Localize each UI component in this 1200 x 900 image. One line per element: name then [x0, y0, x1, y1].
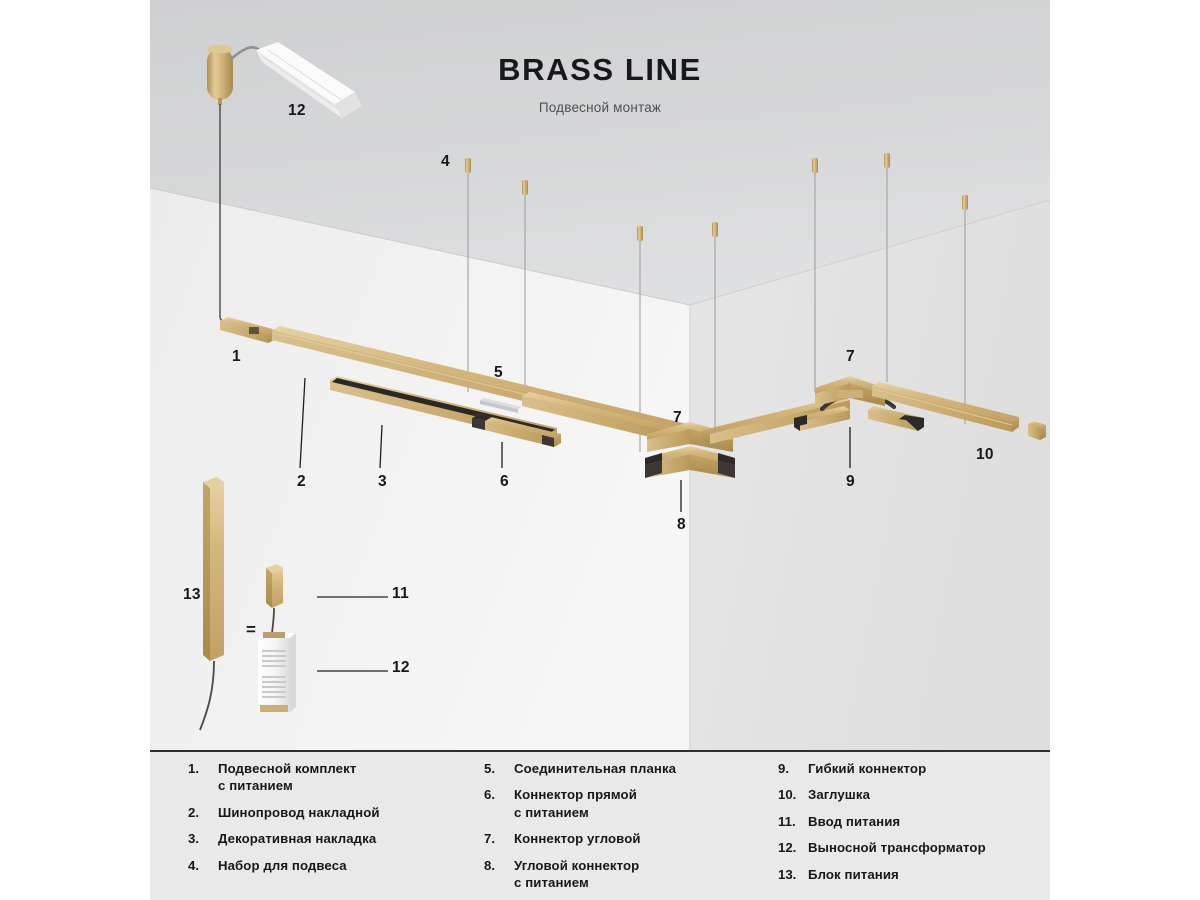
legend-item-label: Соединительная планка	[514, 760, 676, 777]
legend-column-2: 5. Соединительная планка 6. Коннектор пр…	[484, 760, 764, 900]
diagram-panel: BRASS LINE Подвесной монтаж 1 2 3 4 5 6 …	[150, 0, 1050, 900]
room-scene	[150, 0, 1050, 750]
legend-item-number: 13.	[778, 866, 808, 883]
legend-column-1: 1. Подвесной комплект с питанием 2. Шино…	[188, 760, 488, 883]
legend-item-label: Коннектор прямой с питанием	[514, 786, 637, 821]
legend-item-number: 7.	[484, 830, 514, 847]
legend-item-number: 5.	[484, 760, 514, 777]
legend-item-number: 2.	[188, 804, 218, 821]
legend-item: 6. Коннектор прямой с питанием	[484, 786, 764, 821]
callout-2: 2	[297, 473, 306, 491]
legend-item-label: Угловой коннектор с питанием	[514, 857, 639, 892]
equals-sign: =	[246, 620, 256, 640]
legend-item-label: Набор для подвеса	[218, 857, 347, 874]
legend-item-number: 9.	[778, 760, 808, 777]
callout-1: 1	[232, 348, 241, 366]
legend-item-label: Гибкий коннектор	[808, 760, 926, 777]
callout-13: 13	[183, 586, 201, 604]
legend-item: 13. Блок питания	[778, 866, 1048, 883]
legend-item-label: Блок питания	[808, 866, 899, 883]
legend-item-number: 12.	[778, 839, 808, 856]
legend-item-label: Подвесной комплект с питанием	[218, 760, 356, 795]
legend-item-label: Заглушка	[808, 786, 870, 803]
legend-item: 2. Шинопровод накладной	[188, 804, 488, 821]
callout-10: 10	[976, 446, 994, 464]
legend-item-number: 11.	[778, 813, 808, 830]
legend-item-label: Декоративная накладка	[218, 830, 376, 847]
legend-item: 1. Подвесной комплект с питанием	[188, 760, 488, 795]
legend-item-label: Коннектор угловой	[514, 830, 641, 847]
legend-item-number: 10.	[778, 786, 808, 803]
legend-item: 7. Коннектор угловой	[484, 830, 764, 847]
callout-4: 4	[441, 153, 450, 171]
legend-item: 9. Гибкий коннектор	[778, 760, 1048, 777]
legend-item: 4. Набор для подвеса	[188, 857, 488, 874]
callout-8: 8	[677, 516, 686, 534]
legend-item: 12. Выносной трансформатор	[778, 839, 1048, 856]
legend-item-number: 4.	[188, 857, 218, 874]
callout-12-bottom: 12	[392, 659, 410, 677]
legend-item-label: Ввод питания	[808, 813, 900, 830]
legend-item-number: 8.	[484, 857, 514, 892]
callout-6: 6	[500, 473, 509, 491]
callout-12-top: 12	[288, 102, 306, 120]
legend-item-label: Шинопровод накладной	[218, 804, 380, 821]
legend-item: 8. Угловой коннектор с питанием	[484, 857, 764, 892]
legend-item-number: 6.	[484, 786, 514, 821]
part-12-remote-transformer-bottom	[258, 632, 296, 712]
legend-item: 10. Заглушка	[778, 786, 1048, 803]
legend-item: 11. Ввод питания	[778, 813, 1048, 830]
callout-5: 5	[494, 364, 503, 382]
callout-9: 9	[846, 473, 855, 491]
product-diagram-page: BRASS LINE Подвесной монтаж 1 2 3 4 5 6 …	[0, 0, 1200, 900]
legend-item-label: Выносной трансформатор	[808, 839, 986, 856]
callout-3: 3	[378, 473, 387, 491]
callout-7-right: 7	[846, 348, 855, 366]
callout-11: 11	[392, 585, 409, 603]
legend-column-3: 9. Гибкий коннектор 10. Заглушка 11. Вво…	[778, 760, 1048, 892]
legend-item-number: 3.	[188, 830, 218, 847]
legend: 1. Подвесной комплект с питанием 2. Шино…	[150, 752, 1050, 900]
legend-item: 3. Декоративная накладка	[188, 830, 488, 847]
legend-item-number: 1.	[188, 760, 218, 795]
callout-7-left: 7	[673, 409, 682, 427]
legend-item: 5. Соединительная планка	[484, 760, 764, 777]
